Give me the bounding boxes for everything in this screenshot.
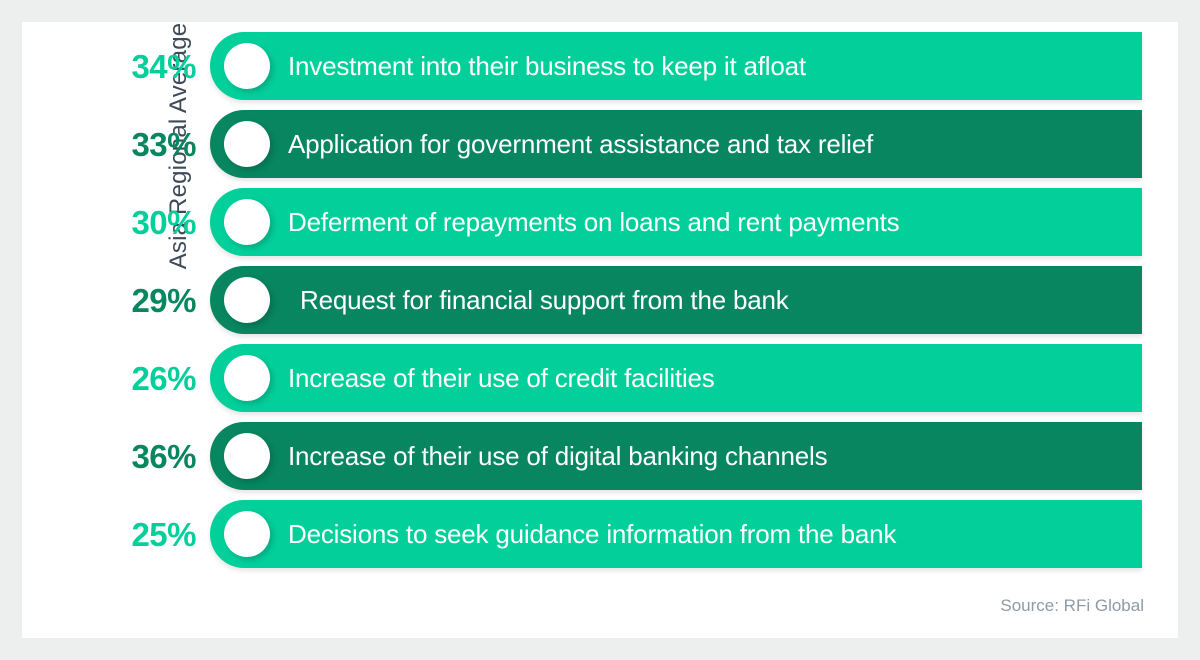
bar-value-label: 29% (122, 284, 210, 317)
infographic-container: Asia Regional Average 34%Investment into… (0, 0, 1200, 660)
bar-category-label: Investment into their business to keep i… (288, 51, 806, 82)
bar-category-label: Deferment of repayments on loans and ren… (288, 207, 899, 238)
bar: Increase of their use of digital banking… (210, 422, 1142, 490)
bar-category-label: Decisions to seek guidance information f… (288, 519, 896, 550)
source-caption: Source: RFi Global (1000, 596, 1144, 616)
bar: Deferment of repayments on loans and ren… (210, 188, 1142, 256)
bar-value-label: 25% (122, 518, 210, 551)
bar-row: 25%Decisions to seek guidance informatio… (122, 500, 1142, 568)
bar-row: 36%Increase of their use of digital bank… (122, 422, 1142, 490)
bullet-circle-icon (224, 199, 270, 245)
bar: Application for government assistance an… (210, 110, 1142, 178)
bullet-circle-icon (224, 43, 270, 89)
bar-category-label: Application for government assistance an… (288, 129, 873, 160)
bar-category-label: Increase of their use of digital banking… (288, 441, 827, 472)
bar-value-label: 26% (122, 362, 210, 395)
bar-value-label: 34% (122, 50, 210, 83)
bullet-circle-icon (224, 433, 270, 479)
bar-row: 33%Application for government assistance… (122, 110, 1142, 178)
bar-row: 34%Investment into their business to kee… (122, 32, 1142, 100)
bullet-circle-icon (224, 121, 270, 167)
bar-row: 30%Deferment of repayments on loans and … (122, 188, 1142, 256)
bar: Request for financial support from the b… (210, 266, 1142, 334)
chart-canvas: Asia Regional Average 34%Investment into… (22, 22, 1178, 638)
bar: Increase of their use of credit faciliti… (210, 344, 1142, 412)
bullet-circle-icon (224, 355, 270, 401)
bullet-circle-icon (224, 277, 270, 323)
bar-category-label: Request for financial support from the b… (300, 285, 789, 316)
bar-value-label: 36% (122, 440, 210, 473)
bar-list: 34%Investment into their business to kee… (122, 32, 1142, 578)
bar-value-label: 30% (122, 206, 210, 239)
bar-category-label: Increase of their use of credit faciliti… (288, 363, 715, 394)
bar-value-label: 33% (122, 128, 210, 161)
bullet-circle-icon (224, 511, 270, 557)
bar-row: 26%Increase of their use of credit facil… (122, 344, 1142, 412)
bar: Investment into their business to keep i… (210, 32, 1142, 100)
bar-row: 29%Request for financial support from th… (122, 266, 1142, 334)
bar: Decisions to seek guidance information f… (210, 500, 1142, 568)
